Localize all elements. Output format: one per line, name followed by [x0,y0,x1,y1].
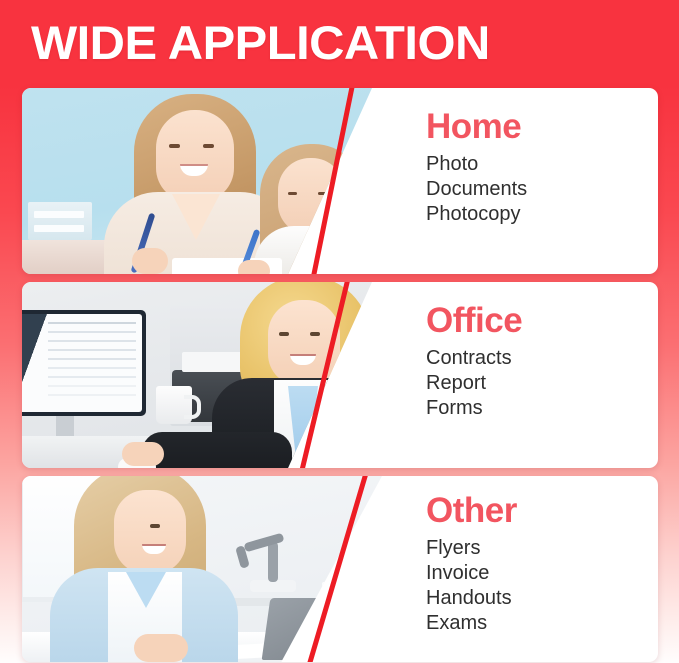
card-text-office: Office Contracts Report Forms [426,282,658,468]
list-item: Flyers [426,536,658,561]
list-item: Invoice [426,561,658,586]
application-card-office[interactable]: Office Contracts Report Forms [22,282,658,468]
card-list-office: Contracts Report Forms [426,346,658,421]
card-list-home: Photo Documents Photocopy [426,152,658,227]
card-heading-other: Other [426,490,658,532]
list-item: Photocopy [426,202,658,227]
card-heading-home: Home [426,106,658,148]
list-item: Exams [426,611,658,636]
card-text-other: Other Flyers Invoice Handouts Exams [426,476,658,662]
card-heading-office: Office [426,300,658,342]
card-photo-other [22,476,382,662]
list-item: Handouts [426,586,658,611]
list-item: Documents [426,177,658,202]
list-item: Forms [426,396,658,421]
card-text-home: Home Photo Documents Photocopy [426,88,658,274]
application-cards: Home Photo Documents Photocopy [0,86,679,663]
application-card-other[interactable]: Other Flyers Invoice Handouts Exams [22,476,658,662]
application-card-home[interactable]: Home Photo Documents Photocopy [22,88,658,274]
list-item: Photo [426,152,658,177]
page-title: WIDE APPLICATION [31,17,490,69]
list-item: Contracts [426,346,658,371]
other-scene-illustration [22,476,382,662]
page-header: WIDE APPLICATION [0,0,679,86]
list-item: Report [426,371,658,396]
card-list-other: Flyers Invoice Handouts Exams [426,536,658,636]
card-photo-office [22,282,372,468]
office-scene-illustration [22,282,372,468]
